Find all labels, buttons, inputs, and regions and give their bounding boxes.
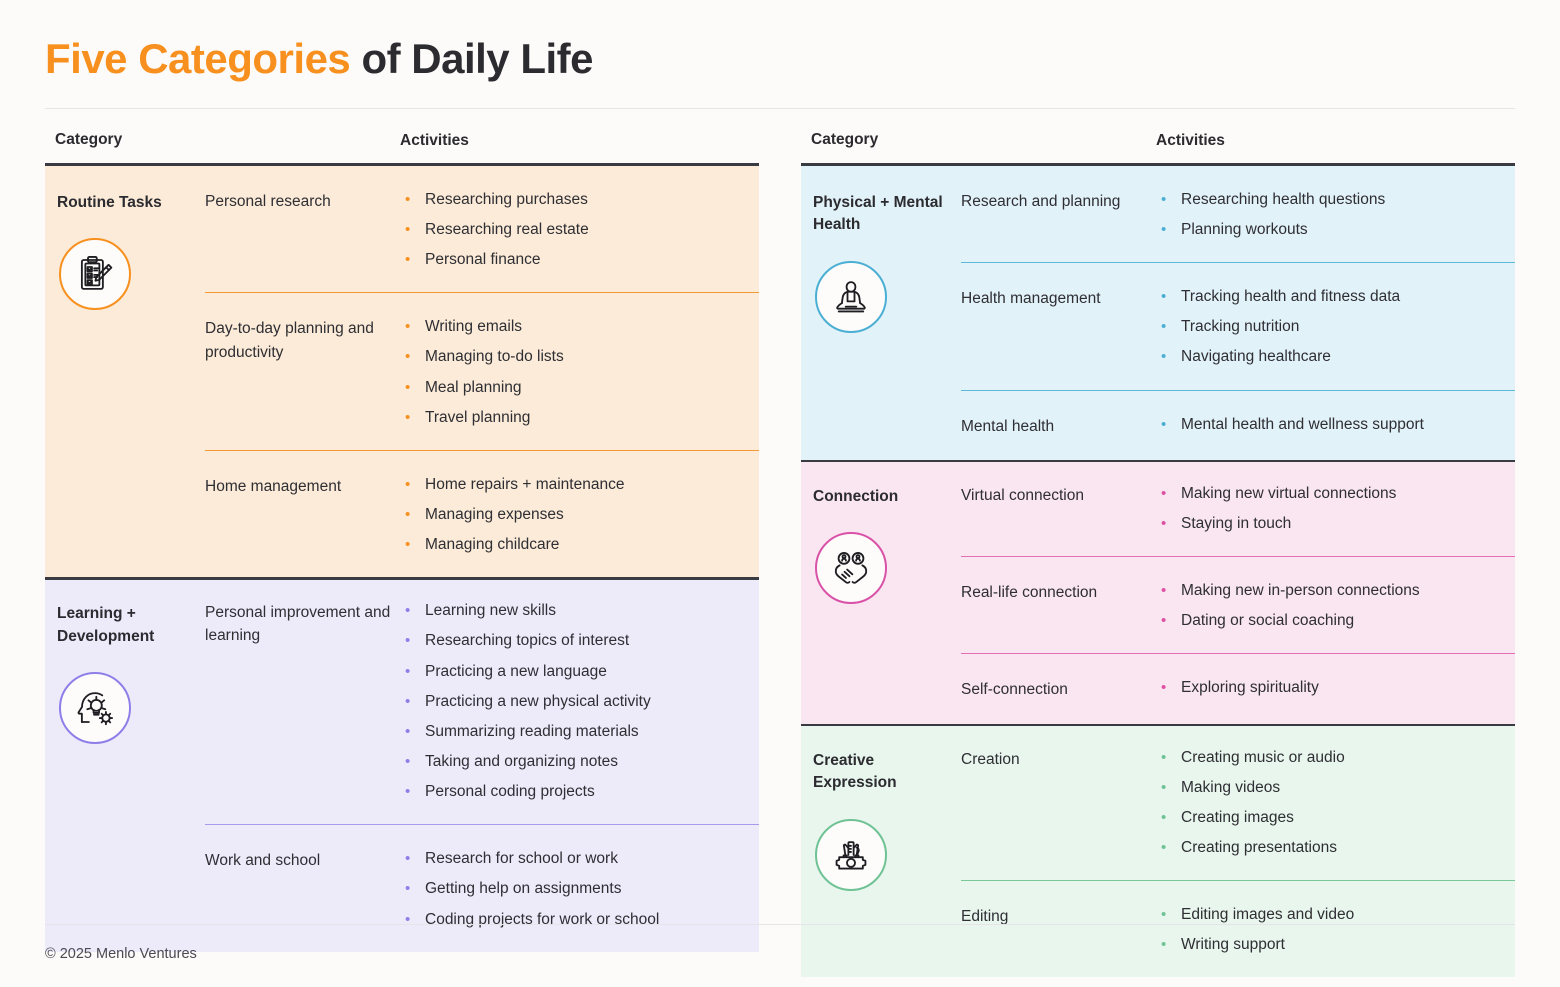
bullet-icon: • [405, 220, 425, 240]
activity-list: •Researching health questions•Planning w… [1161, 190, 1499, 240]
subcategory-label: Real-life connection [961, 581, 1161, 631]
category-column: Connection [801, 460, 961, 724]
activity-text: Making new in-person connections [1181, 581, 1420, 601]
bullet-icon: • [1161, 347, 1181, 367]
activity-text: Creating images [1181, 808, 1294, 828]
activity-text: Making videos [1181, 778, 1280, 798]
activity-text: Creating presentations [1181, 838, 1337, 858]
list-item: •Mental health and wellness support [1161, 415, 1499, 435]
bullet-icon: • [1161, 748, 1181, 768]
list-item: •Tracking nutrition [1161, 317, 1499, 337]
activity-text: Getting help on assignments [425, 879, 621, 899]
subcategory-label: Health management [961, 287, 1161, 367]
activity-text: Personal coding projects [425, 782, 595, 802]
activity-text: Research for school or work [425, 849, 618, 869]
list-item: •Practicing a new language [405, 662, 743, 682]
list-item: •Dating or social coaching [1161, 611, 1499, 631]
bullet-icon: • [1161, 808, 1181, 828]
activity-list: •Research for school or work•Getting hel… [405, 849, 743, 929]
activity-text: Practicing a new physical activity [425, 692, 651, 712]
activity-list: •Researching purchases•Researching real … [405, 190, 743, 270]
activity-text: Meal planning [425, 378, 522, 398]
footer-copyright: © 2025 Menlo Ventures [45, 946, 197, 962]
list-item: •Travel planning [405, 408, 743, 428]
bullet-icon: • [1161, 220, 1181, 240]
bullet-icon: • [1161, 611, 1181, 631]
category-column: Routine Tasks [45, 166, 205, 577]
list-item: •Writing support [1161, 935, 1499, 955]
subcategory-label: Editing [961, 905, 1161, 955]
rows-column: Virtual connection•Making new virtual co… [961, 460, 1515, 724]
column-header-category: Category [811, 131, 1156, 151]
section-divider [45, 577, 759, 580]
bullet-icon: • [1161, 581, 1181, 601]
bullet-icon: • [405, 601, 425, 621]
subcategory-label: Virtual connection [961, 484, 1161, 534]
activity-row: Work and school•Research for school or w… [205, 824, 759, 951]
list-item: •Managing to-do lists [405, 347, 743, 367]
section-divider [801, 460, 1515, 463]
handshake-people-icon [815, 532, 887, 604]
list-item: •Learning new skills [405, 601, 743, 621]
bullet-icon: • [405, 505, 425, 525]
activity-text: Researching health questions [1181, 190, 1385, 210]
activity-row: Real-life connection•Making new in-perso… [961, 556, 1515, 653]
activity-list: •Creating music or audio•Making videos•C… [1161, 748, 1499, 859]
list-item: •Editing images and video [1161, 905, 1499, 925]
column-header-activities: Activities [400, 131, 759, 151]
category-section: Routine TasksPersonal research•Researchi… [45, 166, 759, 577]
title-plain: of Daily Life [350, 35, 593, 82]
activity-text: Managing childcare [425, 535, 559, 555]
list-item: •Making new in-person connections [1161, 581, 1499, 601]
subcategory-label: Work and school [205, 849, 405, 929]
activity-text: Managing to-do lists [425, 347, 564, 367]
bullet-icon: • [405, 408, 425, 428]
list-item: •Researching topics of interest [405, 631, 743, 651]
list-item: •Researching health questions [1161, 190, 1499, 210]
category-name: Creative Expression [813, 750, 953, 795]
bullet-icon: • [405, 190, 425, 210]
activity-list: •Editing images and video•Writing suppor… [1161, 905, 1499, 955]
table-header: CategoryActivities [801, 131, 1515, 163]
bullet-icon: • [1161, 514, 1181, 534]
list-item: •Creating presentations [1161, 838, 1499, 858]
bullet-icon: • [405, 849, 425, 869]
column-header-activities: Activities [1156, 131, 1515, 151]
subcategory-label: Personal improvement and learning [205, 601, 405, 802]
category-name: Learning + Development [57, 603, 197, 648]
activity-text: Taking and organizing notes [425, 752, 618, 772]
bullet-icon: • [1161, 905, 1181, 925]
subcategory-label: Creation [961, 748, 1161, 859]
activity-row: Personal improvement and learning•Learni… [205, 577, 759, 824]
rows-column: Personal improvement and learning•Learni… [205, 577, 759, 951]
category-section: ConnectionVirtual connection•Making new … [801, 460, 1515, 724]
list-item: •Research for school or work [405, 849, 743, 869]
activity-text: Dating or social coaching [1181, 611, 1354, 631]
activity-list: •Mental health and wellness support [1161, 415, 1499, 438]
subcategory-label: Home management [205, 475, 405, 555]
activity-row: Editing•Editing images and video•Writing… [961, 880, 1515, 977]
activity-text: Researching topics of interest [425, 631, 629, 651]
list-item: •Personal finance [405, 250, 743, 270]
clipboard-checklist-pencil-icon [59, 238, 131, 310]
bullet-icon: • [1161, 317, 1181, 337]
activity-row: Day-to-day planning and productivity•Wri… [205, 292, 759, 450]
bullet-icon: • [405, 631, 425, 651]
activity-text: Staying in touch [1181, 514, 1291, 534]
activity-row: Virtual connection•Making new virtual co… [961, 460, 1515, 556]
activity-list: •Home repairs + maintenance•Managing exp… [405, 475, 743, 555]
activity-text: Writing emails [425, 317, 522, 337]
bullet-icon: • [1161, 190, 1181, 210]
category-column: Learning + Development [45, 577, 205, 951]
rows-column: Personal research•Researching purchases•… [205, 166, 759, 577]
list-item: •Home repairs + maintenance [405, 475, 743, 495]
activity-list: •Tracking health and fitness data•Tracki… [1161, 287, 1499, 367]
activity-row: Research and planning•Researching health… [961, 166, 1515, 262]
activity-list: •Making new virtual connections•Staying … [1161, 484, 1499, 534]
bullet-icon: • [1161, 838, 1181, 858]
bullet-icon: • [405, 722, 425, 742]
activity-row: Creation•Creating music or audio•Making … [961, 724, 1515, 881]
category-section: Learning + DevelopmentPersonal improveme… [45, 577, 759, 951]
activity-list: •Learning new skills•Researching topics … [405, 601, 743, 802]
activity-text: Coding projects for work or school [425, 910, 659, 930]
footer-divider [45, 924, 1515, 925]
list-item: •Planning workouts [1161, 220, 1499, 240]
activity-text: Learning new skills [425, 601, 556, 621]
bullet-icon: • [1161, 935, 1181, 955]
bullet-icon: • [405, 250, 425, 270]
column-header-category: Category [55, 131, 400, 151]
subcategory-label: Mental health [961, 415, 1161, 438]
list-item: •Coding projects for work or school [405, 910, 743, 930]
subcategory-label: Day-to-day planning and productivity [205, 317, 405, 428]
bullet-icon: • [405, 692, 425, 712]
left-column: CategoryActivitiesRoutine TasksPersonal … [45, 131, 759, 977]
list-item: •Creating music or audio [1161, 748, 1499, 768]
bullet-icon: • [405, 378, 425, 398]
list-item: •Personal coding projects [405, 782, 743, 802]
activity-list: •Writing emails•Managing to-do lists•Mea… [405, 317, 743, 428]
activity-row: Health management•Tracking health and fi… [961, 262, 1515, 389]
list-item: •Researching real estate [405, 220, 743, 240]
subcategory-label: Research and planning [961, 190, 1161, 240]
bullet-icon: • [405, 662, 425, 682]
list-item: •Meal planning [405, 378, 743, 398]
bullet-icon: • [405, 910, 425, 930]
activity-text: Making new virtual connections [1181, 484, 1396, 504]
activity-text: Creating music or audio [1181, 748, 1345, 768]
list-item: •Making new virtual connections [1161, 484, 1499, 504]
rows-column: Creation•Creating music or audio•Making … [961, 724, 1515, 978]
list-item: •Managing expenses [405, 505, 743, 525]
list-item: •Researching purchases [405, 190, 743, 210]
activity-text: Home repairs + maintenance [425, 475, 624, 495]
section-divider [801, 724, 1515, 727]
gear-art-tools-icon [815, 819, 887, 891]
activity-text: Mental health and wellness support [1181, 415, 1424, 435]
activity-text: Summarizing reading materials [425, 722, 639, 742]
activity-text: Personal finance [425, 250, 540, 270]
list-item: •Tracking health and fitness data [1161, 287, 1499, 307]
subcategory-label: Personal research [205, 190, 405, 270]
category-section: Physical + Mental HealthResearch and pla… [801, 166, 1515, 460]
bullet-icon: • [405, 752, 425, 772]
activity-row: Personal research•Researching purchases•… [205, 166, 759, 292]
activity-text: Researching purchases [425, 190, 588, 210]
category-name: Connection [813, 486, 953, 508]
bullet-icon: • [1161, 678, 1181, 698]
bullet-icon: • [1161, 287, 1181, 307]
list-item: •Exploring spirituality [1161, 678, 1499, 698]
subcategory-label: Self-connection [961, 678, 1161, 701]
bullet-icon: • [405, 317, 425, 337]
category-column: Creative Expression [801, 724, 961, 978]
category-name: Physical + Mental Health [813, 192, 953, 237]
list-item: •Writing emails [405, 317, 743, 337]
head-lightbulb-gear-icon [59, 672, 131, 744]
title-accent: Five Categories [45, 35, 350, 82]
infographic-page: Five Categories of Daily Life CategoryAc… [0, 0, 1560, 987]
table-header: CategoryActivities [45, 131, 759, 163]
list-item: •Getting help on assignments [405, 879, 743, 899]
activity-row: Self-connection•Exploring spirituality [961, 653, 1515, 723]
activity-row: Mental health•Mental health and wellness… [961, 390, 1515, 460]
activity-text: Researching real estate [425, 220, 589, 240]
category-column: Physical + Mental Health [801, 166, 961, 460]
bullet-icon: • [405, 535, 425, 555]
activity-row: Home management•Home repairs + maintenan… [205, 450, 759, 577]
category-name: Routine Tasks [57, 192, 197, 214]
bullet-icon: • [1161, 415, 1181, 435]
list-item: •Navigating healthcare [1161, 347, 1499, 367]
page-title: Five Categories of Daily Life [45, 36, 1520, 82]
bullet-icon: • [1161, 484, 1181, 504]
bullet-icon: • [405, 347, 425, 367]
list-item: •Managing childcare [405, 535, 743, 555]
activity-text: Managing expenses [425, 505, 564, 525]
activity-list: •Exploring spirituality [1161, 678, 1499, 701]
activity-text: Practicing a new language [425, 662, 607, 682]
right-column: CategoryActivitiesPhysical + Mental Heal… [801, 131, 1515, 977]
activity-text: Tracking nutrition [1181, 317, 1299, 337]
bullet-icon: • [405, 475, 425, 495]
title-divider [45, 108, 1515, 109]
list-item: •Summarizing reading materials [405, 722, 743, 742]
bullet-icon: • [1161, 778, 1181, 798]
activity-text: Travel planning [425, 408, 530, 428]
list-item: •Creating images [1161, 808, 1499, 828]
title-block: Five Categories of Daily Life [40, 0, 1520, 82]
rows-column: Research and planning•Researching health… [961, 166, 1515, 460]
category-section: Creative ExpressionCreation•Creating mus… [801, 724, 1515, 978]
meditation-figure-icon [815, 261, 887, 333]
list-item: •Making videos [1161, 778, 1499, 798]
bullet-icon: • [405, 879, 425, 899]
list-item: •Staying in touch [1161, 514, 1499, 534]
list-item: •Practicing a new physical activity [405, 692, 743, 712]
activity-text: Navigating healthcare [1181, 347, 1331, 367]
activity-list: •Making new in-person connections•Dating… [1161, 581, 1499, 631]
activity-text: Exploring spirituality [1181, 678, 1319, 698]
activity-text: Writing support [1181, 935, 1285, 955]
activity-text: Tracking health and fitness data [1181, 287, 1400, 307]
activity-text: Editing images and video [1181, 905, 1354, 925]
bullet-icon: • [405, 782, 425, 802]
activity-text: Planning workouts [1181, 220, 1308, 240]
list-item: •Taking and organizing notes [405, 752, 743, 772]
columns-container: CategoryActivitiesRoutine TasksPersonal … [40, 131, 1520, 977]
